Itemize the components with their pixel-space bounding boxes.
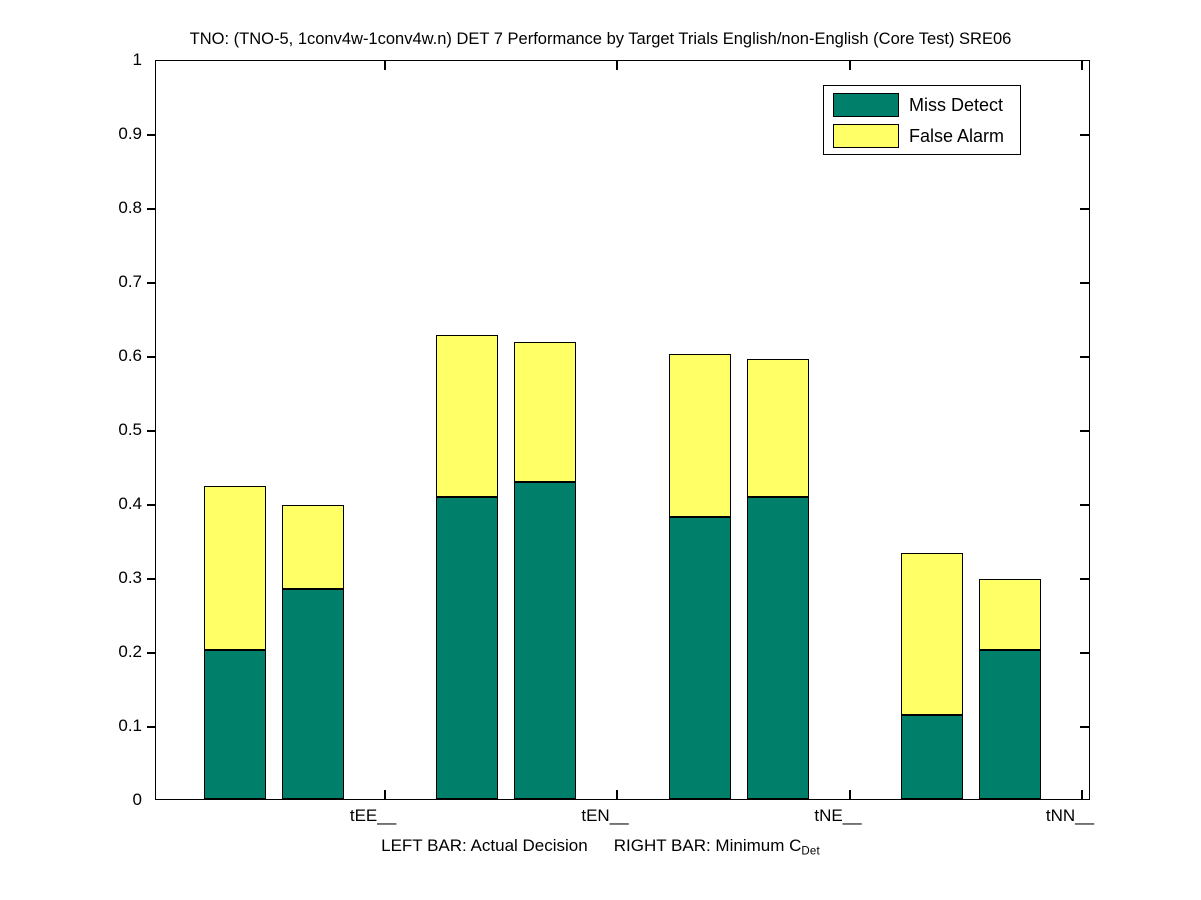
caption-right-bar-subscript: Det	[801, 845, 820, 857]
x-tick-label: tEE__	[350, 806, 396, 826]
legend-swatch	[833, 124, 899, 148]
y-tick-mark	[147, 578, 156, 580]
y-tick-label: 0.6	[118, 346, 142, 366]
y-tick-label: 0.5	[118, 420, 142, 440]
x-tick-label: tNE__	[814, 806, 861, 826]
y-tick-label: 0.8	[118, 198, 142, 218]
bar-segment-miss-detect	[979, 650, 1041, 799]
x-tick-mark	[616, 790, 618, 799]
caption-right-bar-prefix: RIGHT BAR: Minimum C	[614, 836, 802, 855]
x-tick-mark-top	[616, 61, 618, 70]
plot-inner: 00.10.20.30.40.50.60.70.80.91	[156, 61, 1089, 799]
caption-left-bar: LEFT BAR: Actual Decision	[381, 836, 588, 855]
bar-segment-miss-detect	[669, 517, 731, 799]
stacked-bar	[747, 359, 809, 799]
y-tick-mark-right	[1080, 726, 1089, 728]
x-axis-caption: LEFT BAR: Actual DecisionRIGHT BAR: Mini…	[0, 836, 1201, 857]
y-tick-mark-right	[1080, 282, 1089, 284]
y-tick-mark-right	[1080, 208, 1089, 210]
bar-segment-false-alarm	[747, 359, 809, 497]
y-tick-mark-right	[1080, 430, 1089, 432]
y-tick-mark	[147, 208, 156, 210]
bar-segment-false-alarm	[282, 505, 344, 589]
y-tick-label: 0.3	[118, 568, 142, 588]
bar-segment-false-alarm	[436, 335, 498, 497]
x-tick-mark	[849, 790, 851, 799]
y-tick-mark	[147, 726, 156, 728]
y-tick-mark	[147, 652, 156, 654]
chart-title: TNO: (TNO-5, 1conv4w-1conv4w.n) DET 7 Pe…	[0, 30, 1201, 49]
legend-box: Miss DetectFalse Alarm	[823, 85, 1021, 155]
bar-segment-false-alarm	[901, 553, 963, 716]
y-tick-label: 0.9	[118, 124, 142, 144]
y-tick-label: 1	[133, 50, 142, 70]
y-tick-label: 0.4	[118, 494, 142, 514]
y-tick-mark-right	[1080, 504, 1089, 506]
bar-segment-false-alarm	[669, 354, 731, 517]
y-tick-label: 0.1	[118, 716, 142, 736]
y-tick-mark-right	[1080, 134, 1089, 136]
y-tick-mark	[147, 134, 156, 136]
x-tick-mark	[1081, 790, 1083, 799]
x-tick-mark-top	[849, 61, 851, 70]
stacked-bar	[901, 553, 963, 799]
y-tick-label: 0.2	[118, 642, 142, 662]
figure-canvas: TNO: (TNO-5, 1conv4w-1conv4w.n) DET 7 Pe…	[0, 0, 1201, 900]
y-tick-mark	[147, 430, 156, 432]
legend-label: False Alarm	[909, 126, 1004, 147]
y-tick-mark-right	[1080, 578, 1089, 580]
x-tick-mark-top	[384, 61, 386, 70]
legend-entry: False Alarm	[824, 121, 1020, 151]
legend-swatch	[833, 93, 899, 117]
bar-segment-miss-detect	[747, 497, 809, 799]
bar-segment-miss-detect	[204, 650, 266, 799]
bar-segment-miss-detect	[901, 715, 963, 799]
y-tick-mark	[147, 282, 156, 284]
bar-segment-false-alarm	[514, 342, 576, 482]
y-tick-mark-right	[1080, 652, 1089, 654]
stacked-bar	[979, 579, 1041, 799]
stacked-bar	[669, 354, 731, 799]
plot-axes: 00.10.20.30.40.50.60.70.80.91	[155, 60, 1090, 800]
x-tick-mark-top	[1081, 61, 1083, 70]
y-tick-label: 0.7	[118, 272, 142, 292]
y-tick-mark	[147, 356, 156, 358]
bar-segment-miss-detect	[436, 497, 498, 799]
x-tick-label: tNN__	[1046, 806, 1094, 826]
stacked-bar	[282, 505, 344, 799]
stacked-bar	[436, 335, 498, 799]
legend-entry: Miss Detect	[824, 90, 1020, 120]
y-tick-label: 0	[133, 790, 142, 810]
bar-segment-miss-detect	[282, 589, 344, 799]
stacked-bar	[514, 342, 576, 799]
stacked-bar	[204, 486, 266, 799]
x-tick-mark	[384, 790, 386, 799]
caption-right-bar: RIGHT BAR: Minimum CDet	[614, 836, 820, 855]
y-tick-mark-right	[1080, 356, 1089, 358]
bar-segment-false-alarm	[204, 486, 266, 650]
y-tick-mark	[147, 504, 156, 506]
legend-label: Miss Detect	[909, 95, 1003, 116]
bar-segment-false-alarm	[979, 579, 1041, 649]
bar-segment-miss-detect	[514, 482, 576, 799]
x-tick-label: tEN__	[581, 806, 628, 826]
